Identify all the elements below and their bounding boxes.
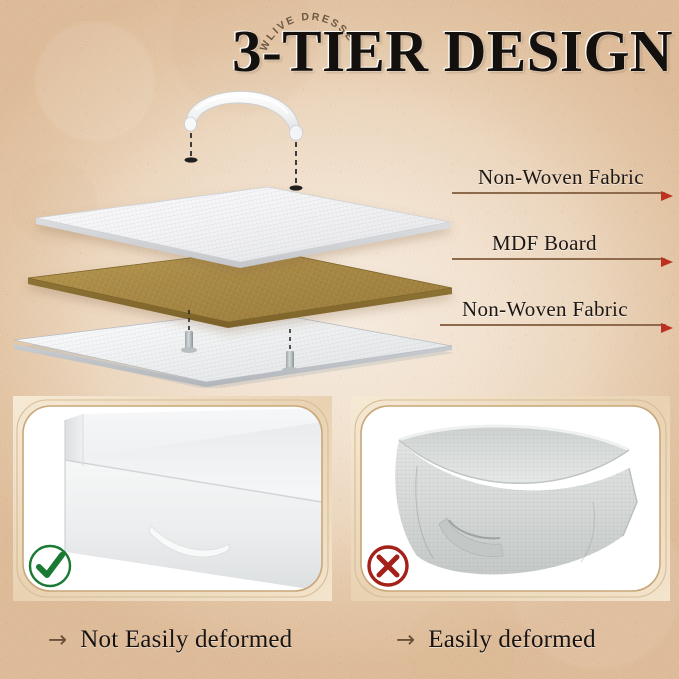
arrow-right-icon: → xyxy=(48,629,67,652)
comparison-panel-good xyxy=(13,396,332,601)
cross-icon xyxy=(363,541,413,591)
arrow-right-icon: → xyxy=(396,629,415,652)
caption-label: Easily deformed xyxy=(428,626,596,654)
callout-non-woven-fabric-bottom: Non-Woven Fabric xyxy=(440,284,679,328)
comparison-panel-bad xyxy=(351,396,670,601)
exploded-layer-diagram xyxy=(0,78,470,388)
rivet-guides xyxy=(185,133,303,191)
callout-mdf-board: MDF Board xyxy=(452,218,679,262)
arrow-right-icon xyxy=(661,191,673,201)
page-title: 3-TIER DESIGN xyxy=(232,20,673,82)
callout-non-woven-fabric-top: Non-Woven Fabric xyxy=(452,152,679,196)
caption-label: Not Easily deformed xyxy=(80,626,292,654)
callout-line xyxy=(452,258,665,260)
arrow-right-icon xyxy=(661,257,673,267)
infographic-canvas: WLIVE DRESSER 3-TIER DESIGN xyxy=(0,0,679,679)
callout-label: Non-Woven Fabric xyxy=(478,165,644,190)
layer-top-fabric xyxy=(36,187,450,268)
callout-line xyxy=(452,192,665,194)
caption-bad: → Easily deformed xyxy=(396,620,596,660)
callout-line xyxy=(440,324,666,326)
check-icon xyxy=(25,541,75,591)
handle-part xyxy=(185,91,303,140)
arrow-right-icon xyxy=(661,323,673,333)
caption-good: → Not Easily deformed xyxy=(48,620,292,660)
callout-label: MDF Board xyxy=(492,231,597,256)
callout-label: Non-Woven Fabric xyxy=(462,297,628,322)
